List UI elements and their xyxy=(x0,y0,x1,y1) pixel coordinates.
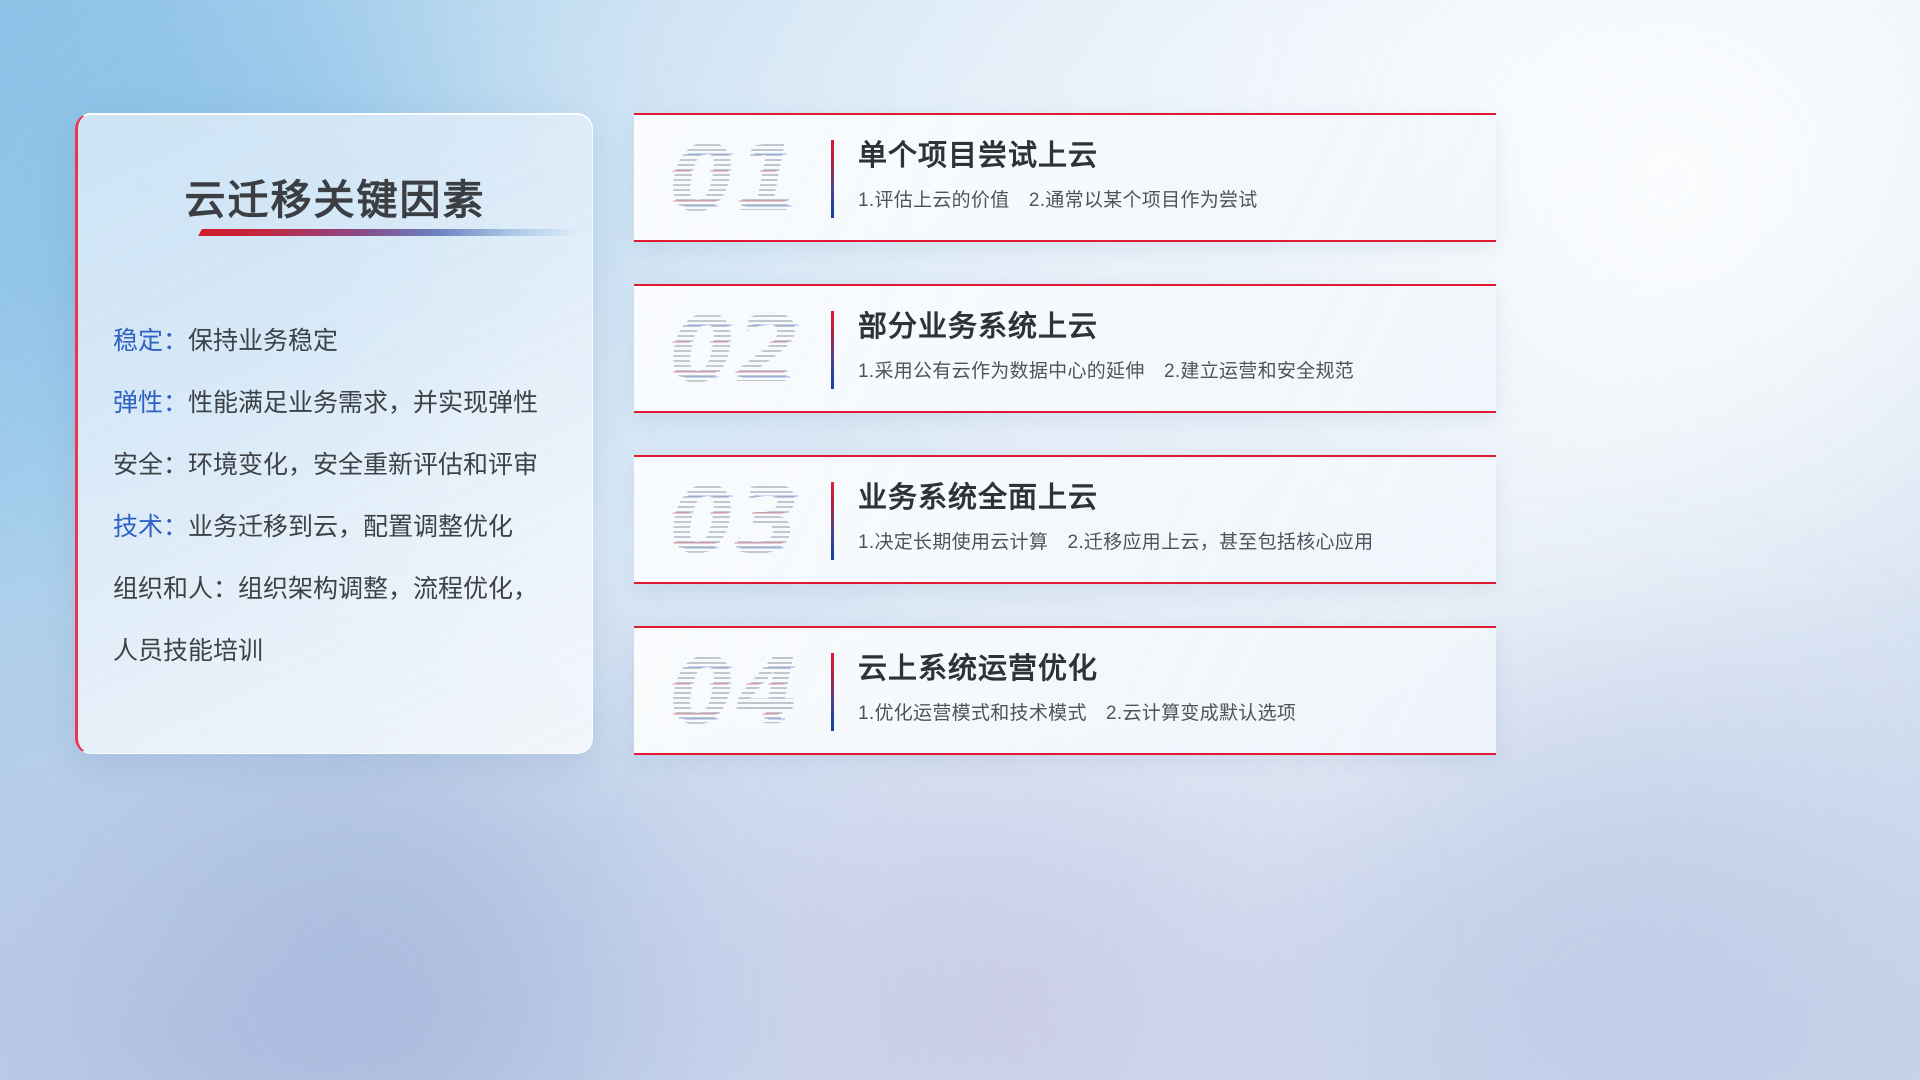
step-body: 云上系统运营优化 1.优化运营模式和技术模式 2.云计算变成默认选项 xyxy=(858,648,1478,728)
factor-value: 保持业务稳定 xyxy=(188,327,338,355)
factor-list: 稳定：保持业务稳定 弹性：性能满足业务需求，并实现弹性 安全：环境变化，安全重新… xyxy=(113,310,568,682)
step-number-glyph-blue-scanline: 03 xyxy=(660,471,816,571)
step-subtitle: 1.采用公有云作为数据中心的延伸 2.建立运营和安全规范 xyxy=(858,358,1478,386)
list-item: 稳定：保持业务稳定 xyxy=(113,310,568,372)
list-item: 弹性：性能满足业务需求，并实现弹性 xyxy=(113,372,568,434)
factor-value: 环境变化，安全重新评估和评审 xyxy=(188,451,538,479)
step-number-glyph-blue-scanline: 02 xyxy=(660,300,816,400)
factor-value: 组织架构调整，流程优化， xyxy=(238,575,538,603)
step-card-03[interactable]: 03 03 03 业务系统全面上云 1.决定长期使用云计算 2.迁移应用上云，甚… xyxy=(634,455,1496,584)
factor-value: 人员技能培训 xyxy=(113,637,263,665)
list-item-continuation: 人员技能培训 xyxy=(113,620,568,682)
step-divider-accent xyxy=(831,140,834,218)
step-card-02[interactable]: 02 02 02 部分业务系统上云 1.采用公有云作为数据中心的延伸 2.建立运… xyxy=(634,284,1496,413)
step-title: 业务系统全面上云 xyxy=(858,477,1478,519)
step-title: 云上系统运营优化 xyxy=(858,648,1478,690)
step-number-02: 02 02 02 xyxy=(656,300,816,400)
step-divider-accent xyxy=(831,482,834,560)
step-title: 部分业务系统上云 xyxy=(858,306,1478,348)
step-body: 部分业务系统上云 1.采用公有云作为数据中心的延伸 2.建立运营和安全规范 xyxy=(858,306,1478,386)
step-body: 业务系统全面上云 1.决定长期使用云计算 2.迁移应用上云，甚至包括核心应用 xyxy=(858,477,1478,557)
step-subtitle: 1.评估上云的价值 2.通常以某个项目作为尝试 xyxy=(858,187,1478,215)
step-number-03: 03 03 03 xyxy=(656,471,816,571)
step-divider-accent xyxy=(831,653,834,731)
step-subtitle: 1.决定长期使用云计算 2.迁移应用上云，甚至包括核心应用 xyxy=(858,529,1478,557)
factor-key: 组织和人： xyxy=(113,575,238,603)
migration-steps-list: 01 01 01 单个项目尝试上云 1.评估上云的价值 2.通常以某个项目作为尝… xyxy=(634,113,1496,797)
factor-key: 安全： xyxy=(113,451,188,479)
step-number-04: 04 04 04 xyxy=(656,642,816,742)
step-card-01[interactable]: 01 01 01 单个项目尝试上云 1.评估上云的价值 2.通常以某个项目作为尝… xyxy=(634,113,1496,242)
slide-stage: 云迁移关键因素 稳定：保持业务稳定 弹性：性能满足业务需求，并实现弹性 安全：环… xyxy=(0,0,1920,1080)
step-title: 单个项目尝试上云 xyxy=(858,135,1478,177)
step-card-04[interactable]: 04 04 04 云上系统运营优化 1.优化运营模式和技术模式 2.云计算变成默… xyxy=(634,626,1496,755)
step-body: 单个项目尝试上云 1.评估上云的价值 2.通常以某个项目作为尝试 xyxy=(858,135,1478,215)
factor-value: 性能满足业务需求，并实现弹性 xyxy=(188,389,538,417)
step-number-glyph-blue-scanline: 04 xyxy=(660,642,816,742)
list-item: 组织和人：组织架构调整，流程优化， xyxy=(113,558,568,620)
step-number-glyph-blue-scanline: 01 xyxy=(660,129,816,229)
key-factors-panel: 云迁移关键因素 稳定：保持业务稳定 弹性：性能满足业务需求，并实现弹性 安全：环… xyxy=(75,113,593,754)
factor-key: 弹性： xyxy=(113,389,188,417)
list-item: 安全：环境变化，安全重新评估和评审 xyxy=(113,434,568,496)
step-divider-accent xyxy=(831,311,834,389)
factor-value: 业务迁移到云，配置调整优化 xyxy=(188,513,513,541)
factor-key: 稳定： xyxy=(113,327,188,355)
step-number-01: 01 01 01 xyxy=(656,129,816,229)
title-underline-accent xyxy=(198,229,582,236)
page-title: 云迁移关键因素 xyxy=(78,166,592,226)
factor-key: 技术： xyxy=(113,513,188,541)
step-subtitle: 1.优化运营模式和技术模式 2.云计算变成默认选项 xyxy=(858,700,1478,728)
list-item: 技术：业务迁移到云，配置调整优化 xyxy=(113,496,568,558)
